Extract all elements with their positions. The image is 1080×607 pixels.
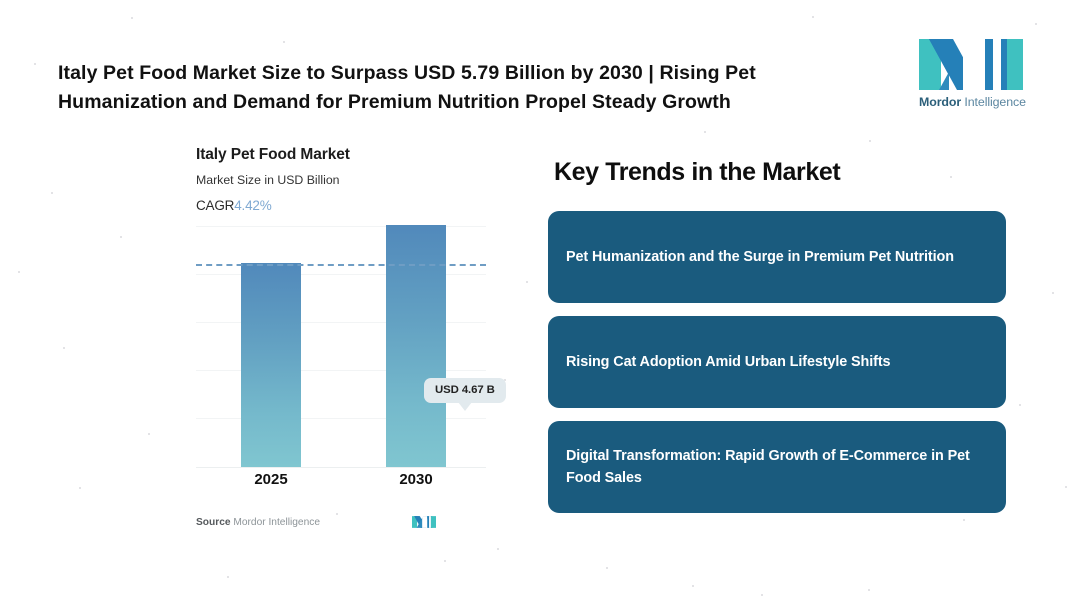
- trend-card[interactable]: Pet Humanization and the Surge in Premiu…: [548, 211, 1006, 303]
- trend-card-text: Pet Humanization and the Surge in Premiu…: [566, 246, 954, 268]
- headline-line-2: Humanization and Demand for Premium Nutr…: [58, 88, 884, 117]
- infographic-page: Italy Pet Food Market Size to Surpass US…: [0, 0, 1080, 607]
- mordor-m-logo-icon-small: [412, 514, 436, 530]
- cagr-label: CAGR: [196, 198, 234, 213]
- mordor-m-logo-icon: [919, 37, 1023, 92]
- trend-card-text: Rising Cat Adoption Amid Urban Lifestyle…: [566, 351, 890, 373]
- reference-dashed-line: [196, 264, 486, 266]
- source-attribution: Source Mordor Intelligence: [196, 517, 320, 528]
- trend-card[interactable]: Digital Transformation: Rapid Growth of …: [548, 421, 1006, 513]
- mordor-intelligence-logo: Mordor Intelligence: [919, 37, 1023, 109]
- chart-plot-area: [196, 226, 486, 468]
- source-label: Source: [196, 517, 231, 528]
- bar-2030: [386, 225, 446, 467]
- chart-subtitle: Market Size in USD Billion: [196, 173, 496, 187]
- trend-card-text: Digital Transformation: Rapid Growth of …: [566, 445, 988, 489]
- bar-2025: [241, 263, 301, 467]
- trend-card[interactable]: Rising Cat Adoption Amid Urban Lifestyle…: [548, 316, 1006, 408]
- page-title: Italy Pet Food Market Size to Surpass US…: [58, 59, 884, 117]
- key-trends-heading: Key Trends in the Market: [554, 158, 1006, 187]
- chart-source-row: Source Mordor Intelligence: [196, 514, 436, 530]
- key-trends-panel: Key Trends in the Market Pet Humanizatio…: [548, 158, 1006, 526]
- x-axis-label-2025: 2025: [226, 471, 316, 488]
- brand-word-mordor: Mordor: [919, 95, 961, 109]
- chart-baseline-axis: [196, 467, 486, 468]
- brand-word-intelligence: Intelligence: [961, 95, 1026, 109]
- source-name: Mordor Intelligence: [231, 517, 320, 528]
- brand-wordmark: Mordor Intelligence: [919, 95, 1023, 109]
- cagr-value: 4.42%: [234, 198, 271, 213]
- page-header: Italy Pet Food Market Size to Surpass US…: [58, 46, 1023, 130]
- chart-title: Italy Pet Food Market: [196, 146, 496, 164]
- value-callout-2025: USD 4.67 B: [424, 378, 506, 403]
- x-axis-label-2030: 2030: [371, 471, 461, 488]
- headline-line-1: Italy Pet Food Market Size to Surpass US…: [58, 62, 756, 84]
- chart-cagr: CAGR4.42%: [196, 198, 496, 213]
- market-size-chart: Italy Pet Food Market Market Size in USD…: [196, 146, 496, 538]
